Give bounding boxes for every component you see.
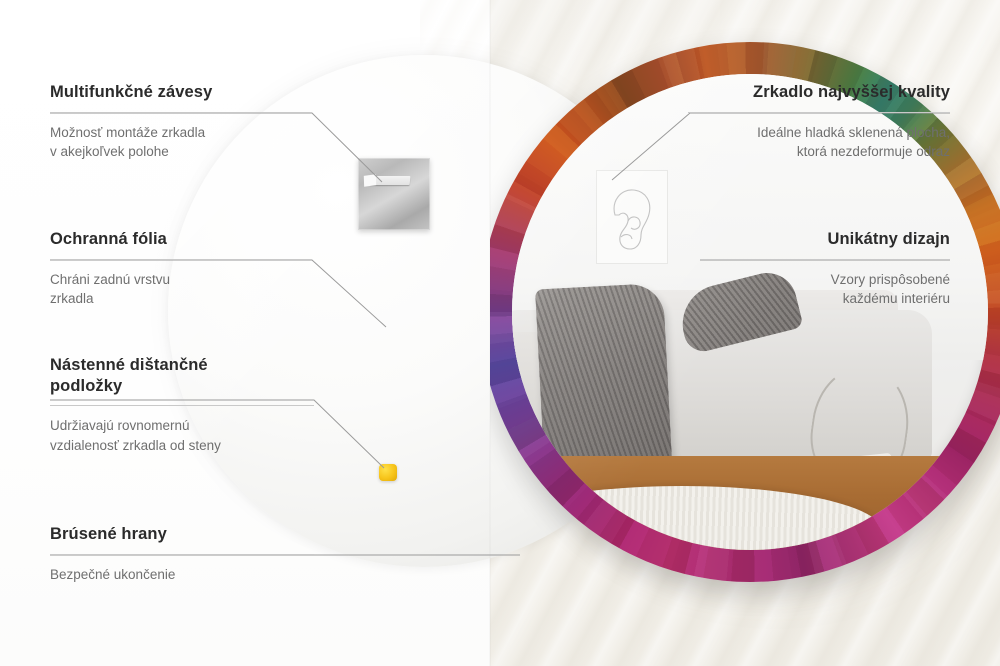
callout-rule xyxy=(50,112,312,113)
callout-title: Nástenné dištančnépodložky xyxy=(50,355,314,396)
callout-ochranna-folia: Ochranná fólia Chráni zadnú vrstvuzrkadl… xyxy=(50,229,312,309)
callout-description: Udržiavajú rovnomernúvzdialenosť zrkadla… xyxy=(50,416,314,455)
callout-rule xyxy=(50,259,312,260)
callout-title: Unikátny dizajn xyxy=(700,229,950,250)
callout-title: Zrkadlo najvyššej kvality xyxy=(688,82,950,103)
callout-description: Vzory prispôsobenékaždému interiéru xyxy=(700,270,950,309)
callout-title: Multifunkčné závesy xyxy=(50,82,312,103)
panel-divider xyxy=(489,0,491,666)
callout-multifunkcne-zavesy: Multifunkčné závesy Možnosť montáže zrka… xyxy=(50,82,312,162)
callout-rule xyxy=(50,405,314,406)
callout-title: Brúsené hrany xyxy=(50,524,314,545)
yellow-spacer-pad xyxy=(379,464,397,481)
reflected-knit-throw xyxy=(535,283,673,485)
callout-rule xyxy=(700,259,950,260)
callout-nastenne-distancne-podlozky: Nástenné dištančnépodložky Udržiavajú ro… xyxy=(50,355,314,455)
callout-zrkadlo-najvyssej-kvality: Zrkadlo najvyššej kvality Ideálne hladká… xyxy=(688,82,950,162)
callout-description: Chráni zadnú vrstvuzrkadla xyxy=(50,270,312,309)
callout-description: Bezpečné ukončenie xyxy=(50,565,314,585)
callout-description: Možnosť montáže zrkadlav akejkoľvek polo… xyxy=(50,123,312,162)
hanger-keyhole-slot xyxy=(370,176,411,185)
line-art-figure-icon xyxy=(597,171,665,261)
callout-unikatny-dizajn: Unikátny dizajn Vzory prispôsobenékaždém… xyxy=(700,229,950,309)
callout-brusene-hrany: Brúsené hrany Bezpečné ukončenie xyxy=(50,524,314,584)
callout-description: Ideálne hladká sklenená plocha,ktorá nez… xyxy=(688,123,950,162)
reflected-line-art-poster xyxy=(596,170,668,264)
product-infographic: Multifunkčné závesy Možnosť montáže zrka… xyxy=(0,0,1000,666)
callout-title: Ochranná fólia xyxy=(50,229,312,250)
callout-rule xyxy=(50,554,314,555)
callout-rule xyxy=(688,112,950,113)
wall-hanger-plate xyxy=(358,158,430,230)
